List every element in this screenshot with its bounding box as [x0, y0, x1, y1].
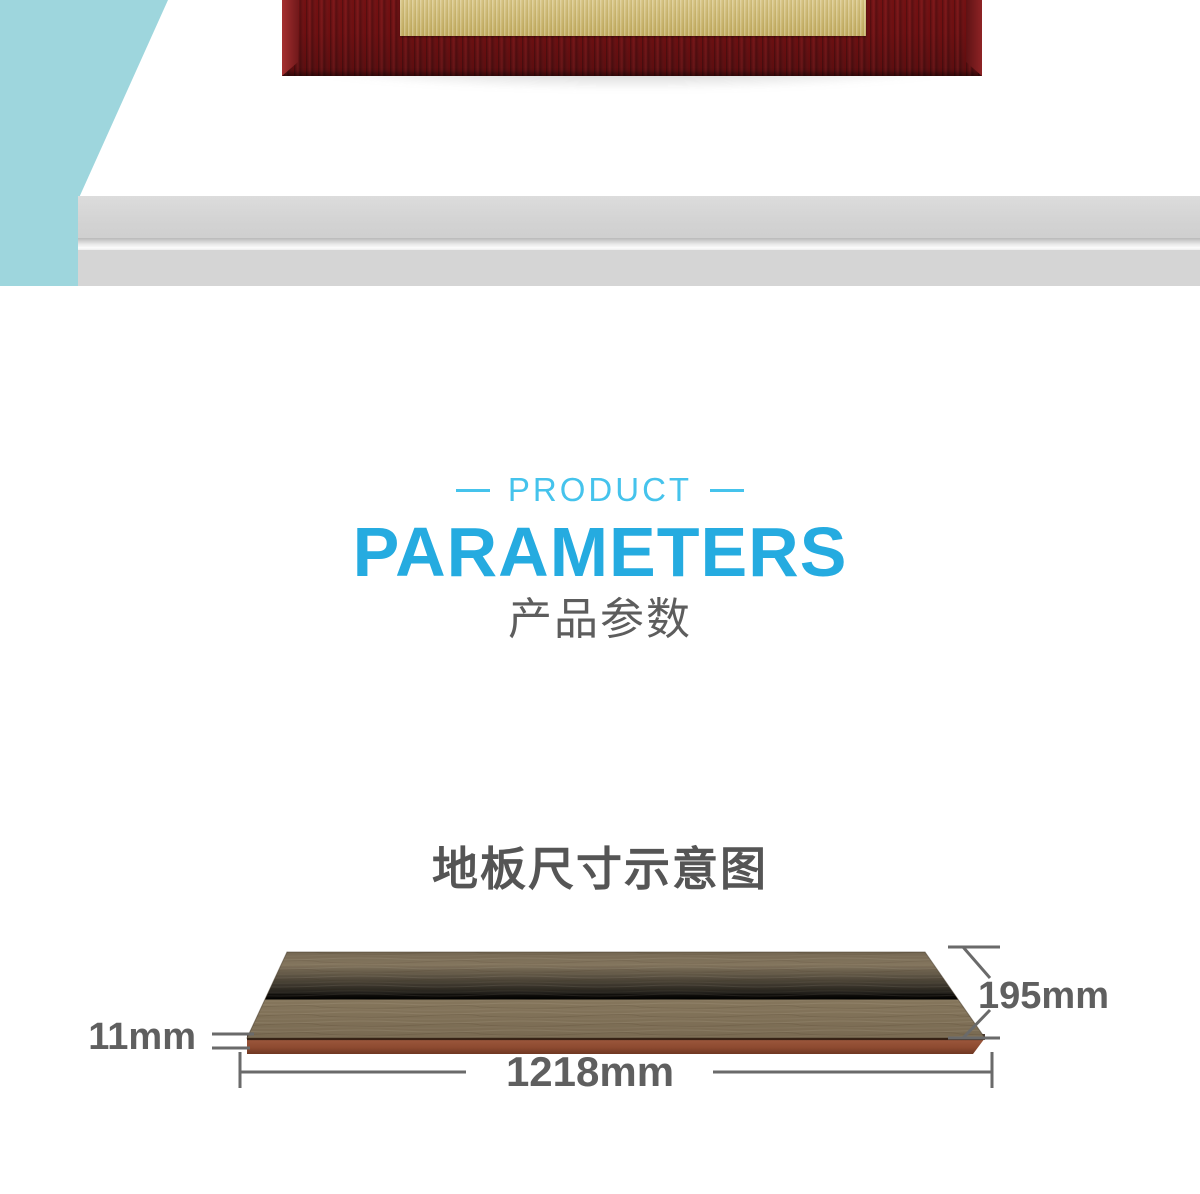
length-label: 1218mm — [506, 1048, 674, 1095]
plaque-bevel-right — [966, 0, 982, 76]
product-photo-band — [0, 0, 1200, 286]
plaque-gold-plate — [400, 0, 866, 36]
parameters-eyebrow: PRODUCT — [0, 470, 1200, 510]
product-parameters-header: PRODUCT PARAMETERS 产品参数 — [0, 470, 1200, 648]
plaque-bevel-left — [282, 0, 298, 76]
wood-plaque — [282, 0, 982, 76]
dash-left-icon — [456, 489, 490, 492]
dash-right-icon — [710, 489, 744, 492]
thickness-label: 11mm — [88, 1016, 196, 1058]
parameters-title: PARAMETERS — [0, 514, 1200, 590]
floor-plank-dimension-diagram: 11mm 195mm 1218mm — [0, 930, 1200, 1130]
diagram-title: 地板尺寸示意图 — [0, 833, 1200, 899]
length-dimension: 1218mm — [240, 1048, 992, 1095]
width-label: 195mm — [978, 975, 1109, 1017]
thickness-dimension: 11mm — [88, 1016, 254, 1058]
parameters-eyebrow-text: PRODUCT — [508, 470, 692, 510]
photo-counter-front-face — [78, 196, 1200, 244]
photo-wall-lower — [0, 196, 78, 286]
photo-counter-lower-panel — [78, 250, 1200, 286]
plank-diagram-svg: 11mm 195mm 1218mm — [0, 930, 1200, 1130]
parameters-subtitle: 产品参数 — [0, 592, 1200, 648]
plank-top-surface — [247, 952, 985, 1038]
